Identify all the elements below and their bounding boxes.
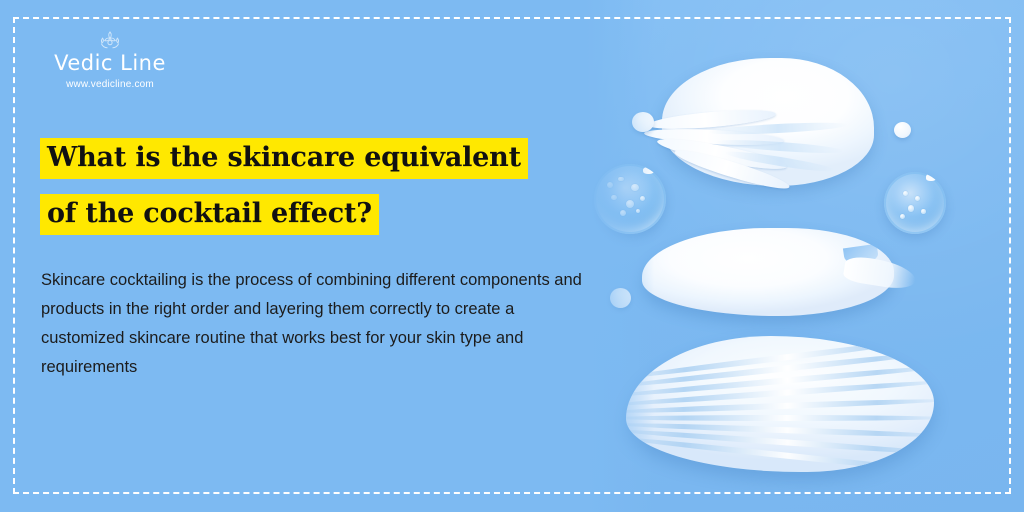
headline-line-2: of the cocktail effect?	[40, 194, 379, 235]
top-cream-smear	[662, 58, 874, 186]
headline-line-1: What is the skincare equivalent	[40, 138, 528, 179]
cream-dot	[894, 122, 911, 138]
brand-name: Vedic Line	[30, 53, 190, 74]
photo-blend-seam	[584, 0, 654, 512]
headline: What is the skincare equivalent of the c…	[40, 138, 600, 250]
gel-bubble	[921, 209, 925, 213]
smear-comb-line	[626, 415, 934, 421]
product-photo	[584, 0, 1024, 512]
middle-cream-smear	[642, 228, 894, 316]
lotus-icon	[97, 28, 123, 52]
bottom-cream-smear	[626, 336, 934, 472]
gel-bubble	[908, 205, 915, 212]
brand-url: www.vedicline.com	[30, 79, 190, 90]
gel-bubble	[915, 196, 920, 201]
brand-logo[interactable]: Vedic Line www.vedicline.com	[30, 28, 190, 90]
gel-bubble	[900, 214, 905, 219]
smear-body	[626, 336, 934, 472]
gel-bubble	[903, 191, 909, 197]
body-text: Skincare cocktailing is the process of c…	[41, 266, 601, 382]
right-gel-droplet	[884, 172, 946, 234]
promo-banner: Vedic Line www.vedicline.com What is the…	[0, 0, 1024, 512]
